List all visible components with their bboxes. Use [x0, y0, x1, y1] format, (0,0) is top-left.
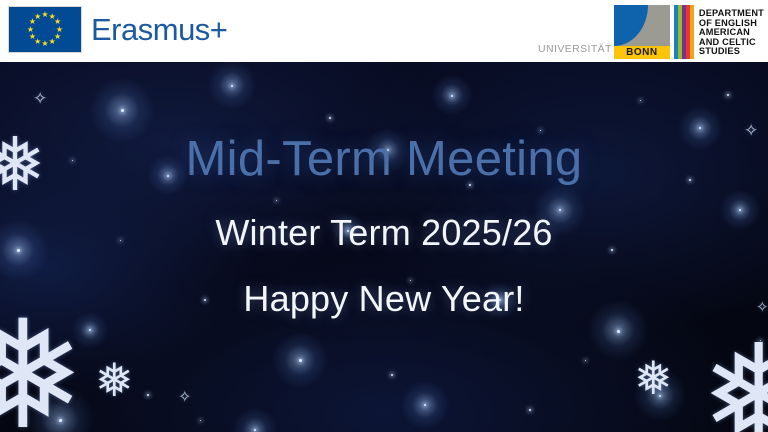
slide-subtitle: Winter Term 2025/26	[215, 212, 552, 254]
department-color-bars	[674, 5, 694, 59]
erasmus-plus-logo: ★★★★★★★★★★★★ Erasmus+	[8, 6, 227, 53]
slide-header-bar: ★★★★★★★★★★★★ Erasmus+ UNIVERSITÄT BONN D…	[0, 0, 768, 62]
shield-bonn-label: BONN	[614, 46, 670, 59]
slide-title: Mid-Term Meeting	[186, 134, 583, 185]
department-color-bar	[690, 5, 694, 59]
eu-star-icon: ★	[27, 26, 35, 34]
presentation-slide: ★★★★★★★★★★★★ Erasmus+ UNIVERSITÄT BONN D…	[0, 0, 768, 432]
eu-star-icon: ★	[48, 38, 56, 46]
eu-star-icon: ★	[34, 13, 42, 21]
bonn-shield-icon: BONN	[614, 5, 670, 59]
universitaet-wordmark: UNIVERSITÄT	[538, 43, 612, 59]
eu-flag-icon: ★★★★★★★★★★★★	[8, 6, 82, 53]
slide-greeting: Happy New Year!	[243, 278, 524, 320]
slide-text-block: Mid-Term Meeting Winter Term 2025/26 Hap…	[0, 62, 768, 432]
erasmus-wordmark: Erasmus+	[91, 12, 227, 48]
university-bonn-logo: UNIVERSITÄT BONN DEPARTMENTOF ENGLISHAME…	[538, 3, 764, 59]
eu-star-icon: ★	[41, 40, 49, 48]
department-name: DEPARTMENTOF ENGLISHAMERICANAND CELTICST…	[699, 9, 764, 59]
eu-star-icon: ★	[28, 33, 36, 41]
department-name-line: STUDIES	[699, 47, 764, 57]
